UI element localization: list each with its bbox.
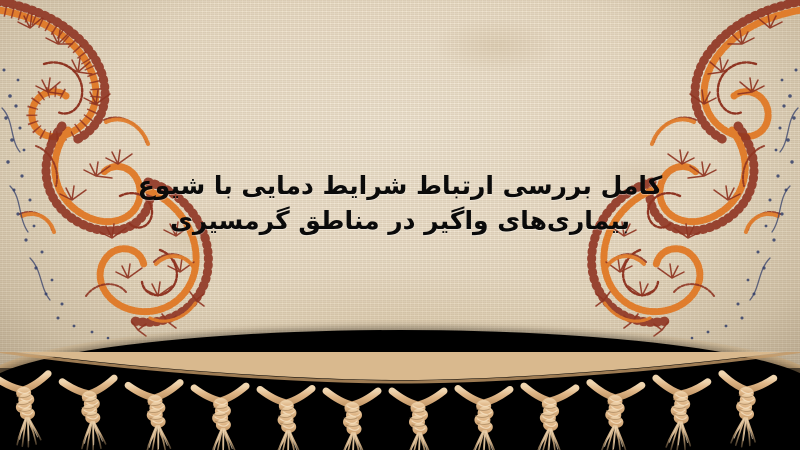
embroidered-cloth: کامل بررسی ارتباط شرایط دمایی با شیوع بی… xyxy=(0,0,800,382)
slide-title: کامل بررسی ارتباط شرایط دمایی با شیوع بی… xyxy=(0,168,800,238)
title-line-1: کامل بررسی ارتباط شرایط دمایی با شیوع xyxy=(0,168,800,203)
title-line-2: بیماری‌های واگیر در مناطق گرمسیری xyxy=(0,203,800,238)
slide-canvas: کامل بررسی ارتباط شرایط دمایی با شیوع بی… xyxy=(0,0,800,450)
